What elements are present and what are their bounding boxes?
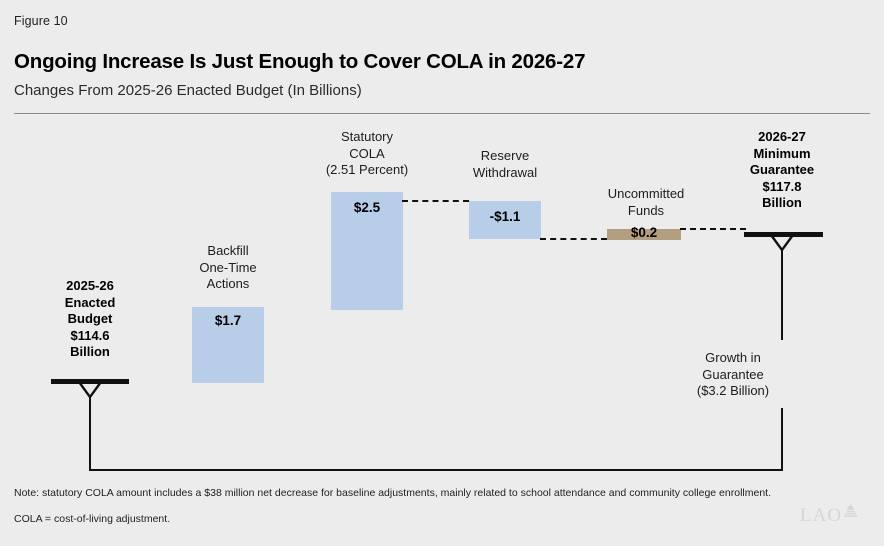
bar-value-reserve-withdrawal: -$1.1	[469, 209, 541, 224]
header-divider	[14, 113, 870, 114]
bar-value-backfill-one-time-actions: $1.7	[192, 313, 264, 328]
chart-abbreviation-note: COLA = cost-of-living adjustment.	[14, 513, 170, 525]
figure-number: Figure 10	[14, 14, 68, 28]
connector-reserve-to-uncommitted	[540, 238, 607, 240]
growth-in-guarantee-bracket	[89, 408, 783, 471]
connector-uncommitted-to-guarantee	[680, 228, 746, 230]
chart-plot-area: 2025-26 Enacted Budget $114.6 Billion Ba…	[0, 118, 884, 483]
bar-value-uncommitted-funds: $0.2	[607, 225, 681, 240]
figure-subtitle: Changes From 2025-26 Enacted Budget (In …	[14, 82, 362, 99]
lao-logo: LAO	[800, 503, 858, 527]
lao-logo-text: LAO	[800, 505, 842, 527]
category-label-enacted-budget: 2025-26 Enacted Budget $114.6 Billion	[30, 278, 150, 361]
endpoint-stem-minimum-guarantee	[781, 249, 783, 340]
category-label-uncommitted-funds: Uncommitted Funds	[585, 186, 707, 219]
endpoint-triangle-inner-enacted-budget	[82, 384, 98, 395]
bar-value-statutory-cola: $2.5	[331, 200, 403, 215]
category-label-backfill-one-time-actions: Backfill One-Time Actions	[168, 243, 288, 293]
figure-root: Figure 10 Ongoing Increase Is Just Enoug…	[0, 0, 884, 546]
annotation-growth-in-guarantee: Growth in Guarantee ($3.2 Billion)	[672, 350, 794, 400]
page-title: Ongoing Increase Is Just Enough to Cover…	[14, 50, 585, 74]
capitol-dome-icon	[843, 503, 858, 527]
category-label-minimum-guarantee: 2026-27 Minimum Guarantee $117.8 Billion	[722, 129, 842, 212]
chart-note: Note: statutory COLA amount includes a $…	[14, 487, 771, 499]
connector-cola-to-reserve	[402, 200, 469, 202]
endpoint-triangle-inner-minimum-guarantee	[774, 237, 790, 248]
category-label-statutory-cola: Statutory COLA (2.51 Percent)	[306, 129, 428, 179]
category-label-reserve-withdrawal: Reserve Withdrawal	[445, 148, 565, 181]
